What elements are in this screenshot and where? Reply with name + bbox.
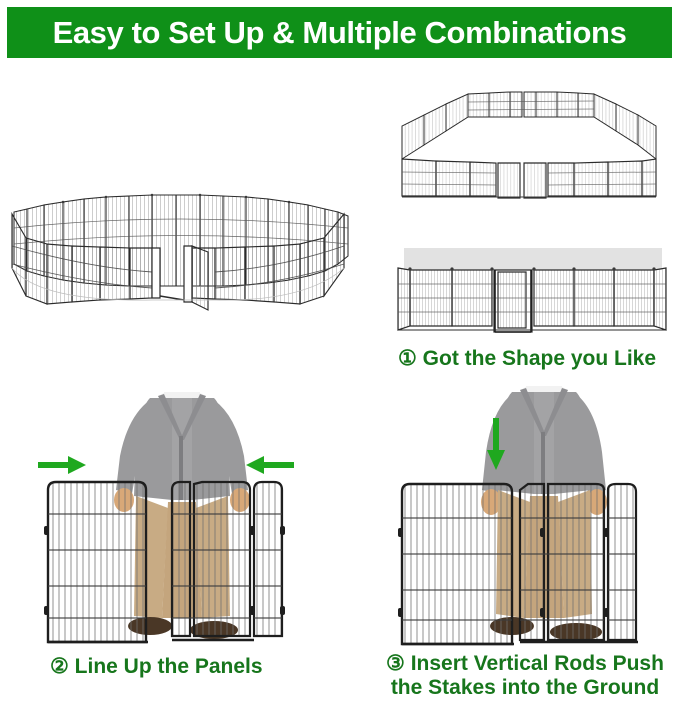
arrow-right-icon xyxy=(38,456,86,474)
step-3-label-line-1: ③ Insert Vertical Rods Push xyxy=(374,652,676,676)
straight-row-svg xyxy=(392,248,676,336)
hex-pen-right-wall xyxy=(594,94,656,159)
step-3-label-line-2: the Stakes into the Ground xyxy=(374,676,676,700)
straight-row-backdrop xyxy=(404,248,662,270)
step-3-caption: ③ Insert Vertical Rods Push the Stakes i… xyxy=(374,652,676,699)
figure-line-up-panels xyxy=(22,378,340,646)
figure-hex-pen xyxy=(398,84,660,206)
step-2-label: ② Line Up the Panels xyxy=(50,655,263,678)
page-title: Easy to Set Up & Multiple Combinations xyxy=(53,17,627,48)
insert-rods-svg xyxy=(392,378,679,646)
line-up-panels-svg xyxy=(22,378,340,646)
figure-straight-row xyxy=(392,248,676,336)
arrow-left-icon xyxy=(246,456,294,474)
straight-row-panels xyxy=(398,268,666,332)
circular-pen-svg xyxy=(0,172,362,310)
step-1-label: ① Got the Shape you Like xyxy=(398,347,656,370)
header-banner: Easy to Set Up & Multiple Combinations xyxy=(7,7,672,58)
hex-pen-back-wall xyxy=(468,92,594,117)
step-1-caption: ① Got the Shape you Like xyxy=(398,347,656,371)
step-2-caption: ② Line Up the Panels xyxy=(50,655,263,679)
figure-insert-rods xyxy=(392,378,679,646)
hex-pen-left-wall xyxy=(402,94,468,159)
figure-circular-pen xyxy=(0,172,362,310)
hex-pen-front-wall xyxy=(402,159,656,198)
hex-pen-svg xyxy=(398,84,660,206)
